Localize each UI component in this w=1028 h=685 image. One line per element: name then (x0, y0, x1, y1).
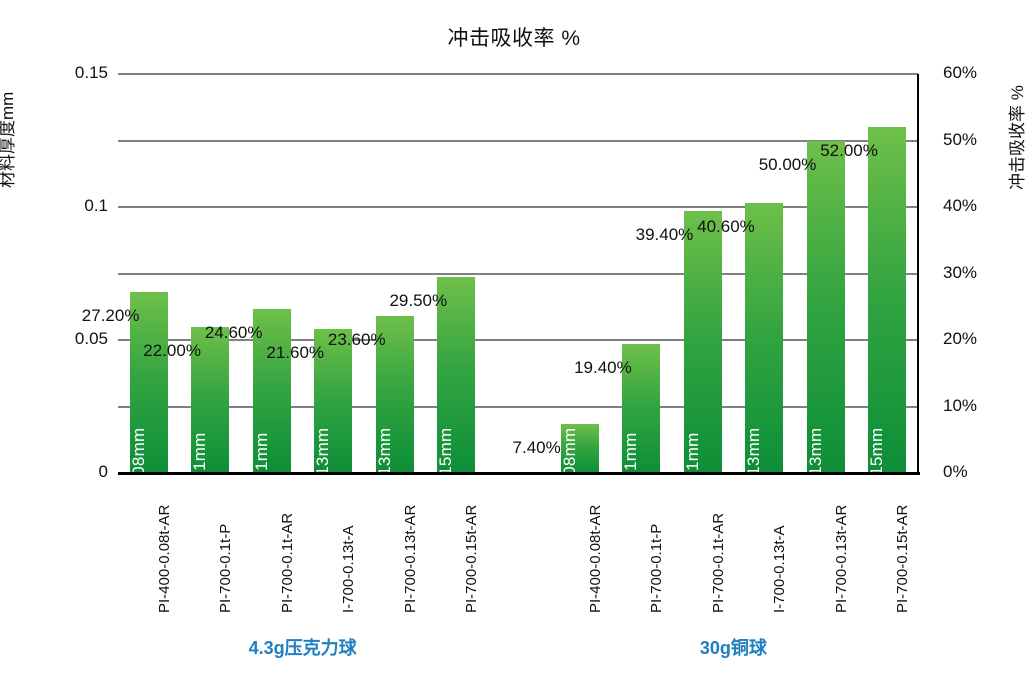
left-axis-title: 材料厚度mm (0, 0, 18, 188)
right-tick-label: 60% (943, 63, 1003, 83)
bar-column[interactable]: 0.13mm (807, 74, 845, 473)
right-tick-label: 10% (943, 396, 1003, 416)
right-axis-title: 冲击吸收率 % (1003, 0, 1028, 190)
bar-value-label: 23.60% (328, 330, 386, 350)
category-label: I-700-0.13t-A (340, 525, 357, 613)
bar-column[interactable]: 0.13mm (745, 74, 783, 473)
bar-thickness-label: 0.1mm (683, 433, 703, 486)
bar-column[interactable]: 0.1mm (622, 74, 660, 473)
bar-thickness-label: 0.15mm (867, 428, 887, 491)
bar-column[interactable]: 0.15mm (437, 74, 475, 473)
bar-thickness-label: 0.13mm (375, 428, 395, 491)
bar-value-label: 22.00% (143, 341, 201, 361)
bars-layer: 0.08mm27.20%0.1mm22.00%0.1mm24.60%0.13mm… (118, 74, 918, 473)
category-label: PI-700-0.1t-P (648, 524, 665, 613)
bar-thickness-label: 0.1mm (252, 433, 272, 486)
right-tick-label: 20% (943, 329, 1003, 349)
bar-column[interactable]: 0.1mm (253, 74, 291, 473)
category-label: PI-700-0.15t-AR (894, 505, 911, 613)
bar-column[interactable]: 0.13mm (314, 74, 352, 473)
bar-value-label: 24.60% (205, 323, 263, 343)
category-label: PI-400-0.08t-AR (587, 505, 604, 613)
bar-thickness-label: 0.1mm (621, 433, 641, 486)
x-axis-line (118, 472, 920, 475)
bar-thickness-label: 0.15mm (436, 428, 456, 491)
bar-thickness-label: 0.13mm (744, 428, 764, 491)
bar-column[interactable]: 0.08mm (130, 74, 168, 473)
right-tick-label: 50% (943, 130, 1003, 150)
bar-thickness-label: 0.1mm (190, 433, 210, 486)
bar-value-label: 19.40% (574, 358, 632, 378)
category-label: PI-700-0.1t-AR (279, 513, 296, 613)
bar-value-label: 7.40% (513, 438, 561, 458)
bar[interactable]: 0.08mm (561, 424, 599, 473)
bar-thickness-label: 0.08mm (560, 428, 580, 491)
left-tick-label: 0.15 (48, 63, 108, 83)
bar-thickness-label: 0.13mm (313, 428, 333, 491)
category-label: PI-700-0.13t-AR (833, 505, 850, 613)
bar-column[interactable]: 0.08mm (561, 74, 599, 473)
bar-column[interactable]: 0.13mm (376, 74, 414, 473)
chart-root: 冲击吸收率 % 0.08mm27.20%0.1mm22.00%0.1mm24.6… (0, 0, 1028, 685)
left-tick-label: 0 (48, 462, 108, 482)
bar-value-label: 52.00% (820, 141, 878, 161)
bar-value-label: 21.60% (266, 343, 324, 363)
right-tick-label: 0% (943, 462, 1003, 482)
bar-column[interactable]: 0.15mm (868, 74, 906, 473)
bar-value-label: 27.20% (82, 306, 140, 326)
bar[interactable]: 0.13mm (745, 203, 783, 473)
group-label: 4.3g压克力球 (183, 634, 423, 660)
bar-column[interactable]: 0.1mm (684, 74, 722, 473)
category-label: PI-400-0.08t-AR (156, 505, 173, 613)
bar-value-label: 29.50% (389, 291, 447, 311)
bar-thickness-label: 0.08mm (129, 428, 149, 491)
category-label: I-700-0.13t-A (771, 525, 788, 613)
bar[interactable]: 0.13mm (807, 141, 845, 474)
right-tick-label: 30% (943, 263, 1003, 283)
chart-title: 冲击吸收率 % (0, 22, 1028, 52)
bar[interactable]: 0.1mm (684, 211, 722, 473)
bar-value-label: 50.00% (759, 155, 817, 175)
right-axis-line (917, 74, 919, 473)
left-tick-label: 0.1 (48, 196, 108, 216)
left-tick-label: 0.05 (48, 329, 108, 349)
category-label: PI-700-0.13t-AR (402, 505, 419, 613)
right-tick-label: 40% (943, 196, 1003, 216)
group-label: 30g铜球 (613, 634, 853, 660)
category-label: PI-700-0.1t-P (217, 524, 234, 613)
bar[interactable]: 0.15mm (868, 127, 906, 473)
bar-value-label: 39.40% (636, 225, 694, 245)
category-label: PI-700-0.15t-AR (463, 505, 480, 613)
bar-thickness-label: 0.13mm (806, 428, 826, 491)
category-label: PI-700-0.1t-AR (710, 513, 727, 613)
bar-column[interactable]: 0.1mm (191, 74, 229, 473)
bar-value-label: 40.60% (697, 217, 755, 237)
